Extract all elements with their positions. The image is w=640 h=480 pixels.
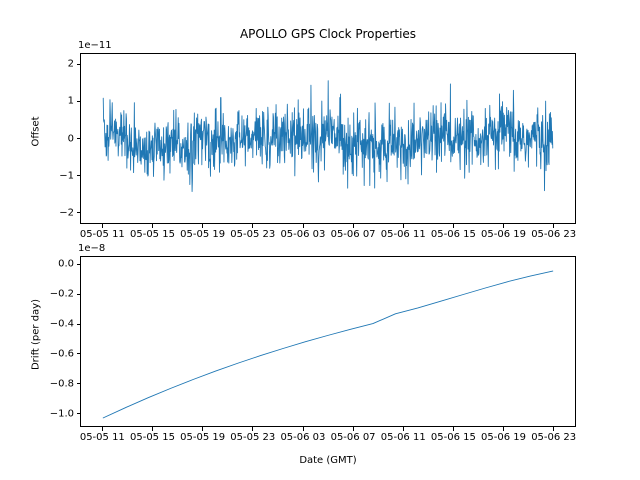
page-title: APOLLO GPS Clock Properties — [80, 27, 576, 41]
offset-y-tick-mark — [77, 138, 81, 139]
drift-y-tick-mark — [77, 413, 81, 414]
offset-x-tick-label: 05-06 15 — [431, 229, 476, 240]
offset-x-tick-mark — [202, 224, 203, 228]
offset-x-tick-label: 05-06 07 — [331, 229, 376, 240]
offset-y-tick-label: 0 — [16, 133, 74, 144]
offset-x-tick-label: 05-05 11 — [80, 229, 125, 240]
offset-x-tick-label: 05-06 11 — [381, 229, 426, 240]
drift-x-tick-mark — [553, 427, 554, 431]
offset-y-tick-mark — [77, 64, 81, 65]
offset-x-tick-label: 05-06 03 — [280, 229, 325, 240]
drift-y-tick-mark — [77, 324, 81, 325]
offset-plot-area — [80, 53, 576, 224]
offset-x-tick-mark — [453, 224, 454, 228]
drift-y-tick-label: −0.4 — [16, 318, 74, 329]
offset-x-tick-label: 05-06 23 — [531, 229, 576, 240]
drift-plot-area — [80, 256, 576, 427]
offset-x-tick-label: 05-05 23 — [230, 229, 275, 240]
drift-x-tick-mark — [152, 427, 153, 431]
offset-axis-exponent-label: 1e−11 — [78, 40, 112, 51]
drift-x-tick-label: 05-06 19 — [481, 432, 526, 443]
drift-x-tick-label: 05-05 11 — [80, 432, 125, 443]
drift-x-tick-mark — [303, 427, 304, 431]
offset-y-tick-mark — [77, 212, 81, 213]
drift-x-tick-mark — [503, 427, 504, 431]
drift-x-tick-label: 05-06 07 — [331, 432, 376, 443]
drift-x-tick-label: 05-06 23 — [531, 432, 576, 443]
drift-x-tick-mark — [102, 427, 103, 431]
x-axis-label: Date (GMT) — [80, 455, 576, 466]
offset-y-tick-mark — [77, 101, 81, 102]
offset-series-line — [81, 54, 575, 223]
drift-y-tick-label: −0.8 — [16, 378, 74, 389]
drift-x-tick-label: 05-05 15 — [130, 432, 175, 443]
drift-x-tick-label: 05-05 19 — [180, 432, 225, 443]
drift-x-tick-mark — [202, 427, 203, 431]
drift-x-tick-label: 05-05 23 — [230, 432, 275, 443]
offset-x-tick-mark — [553, 224, 554, 228]
drift-x-tick-label: 05-06 03 — [280, 432, 325, 443]
drift-y-tick-label: 0.0 — [16, 259, 74, 270]
drift-y-tick-mark — [77, 353, 81, 354]
drift-y-tick-label: −1.0 — [16, 408, 74, 419]
offset-x-tick-mark — [152, 224, 153, 228]
offset-y-tick-label: 1 — [16, 96, 74, 107]
drift-y-tick-mark — [77, 264, 81, 265]
offset-x-tick-label: 05-05 15 — [130, 229, 175, 240]
drift-x-tick-mark — [353, 427, 354, 431]
drift-y-tick-label: −0.6 — [16, 348, 74, 359]
drift-y-tick-mark — [77, 294, 81, 295]
drift-x-tick-label: 05-06 15 — [431, 432, 476, 443]
matplotlib-figure: APOLLO GPS Clock Properties 1e−11 Offset… — [0, 0, 640, 480]
offset-x-tick-mark — [102, 224, 103, 228]
offset-x-tick-mark — [252, 224, 253, 228]
drift-x-tick-label: 05-06 11 — [381, 432, 426, 443]
drift-axis-exponent-label: 1e−8 — [78, 243, 105, 254]
offset-x-tick-mark — [403, 224, 404, 228]
offset-x-tick-mark — [353, 224, 354, 228]
offset-x-tick-label: 05-06 19 — [481, 229, 526, 240]
offset-x-tick-mark — [503, 224, 504, 228]
drift-y-tick-label: −0.2 — [16, 289, 74, 300]
offset-y-tick-mark — [77, 175, 81, 176]
drift-x-tick-mark — [453, 427, 454, 431]
drift-x-tick-mark — [252, 427, 253, 431]
drift-x-tick-mark — [403, 427, 404, 431]
drift-y-tick-mark — [77, 383, 81, 384]
offset-y-tick-label: −2 — [16, 207, 74, 218]
drift-series-line — [81, 257, 575, 426]
offset-x-tick-mark — [303, 224, 304, 228]
offset-x-tick-label: 05-05 19 — [180, 229, 225, 240]
offset-y-tick-label: −1 — [16, 170, 74, 181]
offset-y-tick-label: 2 — [16, 59, 74, 70]
